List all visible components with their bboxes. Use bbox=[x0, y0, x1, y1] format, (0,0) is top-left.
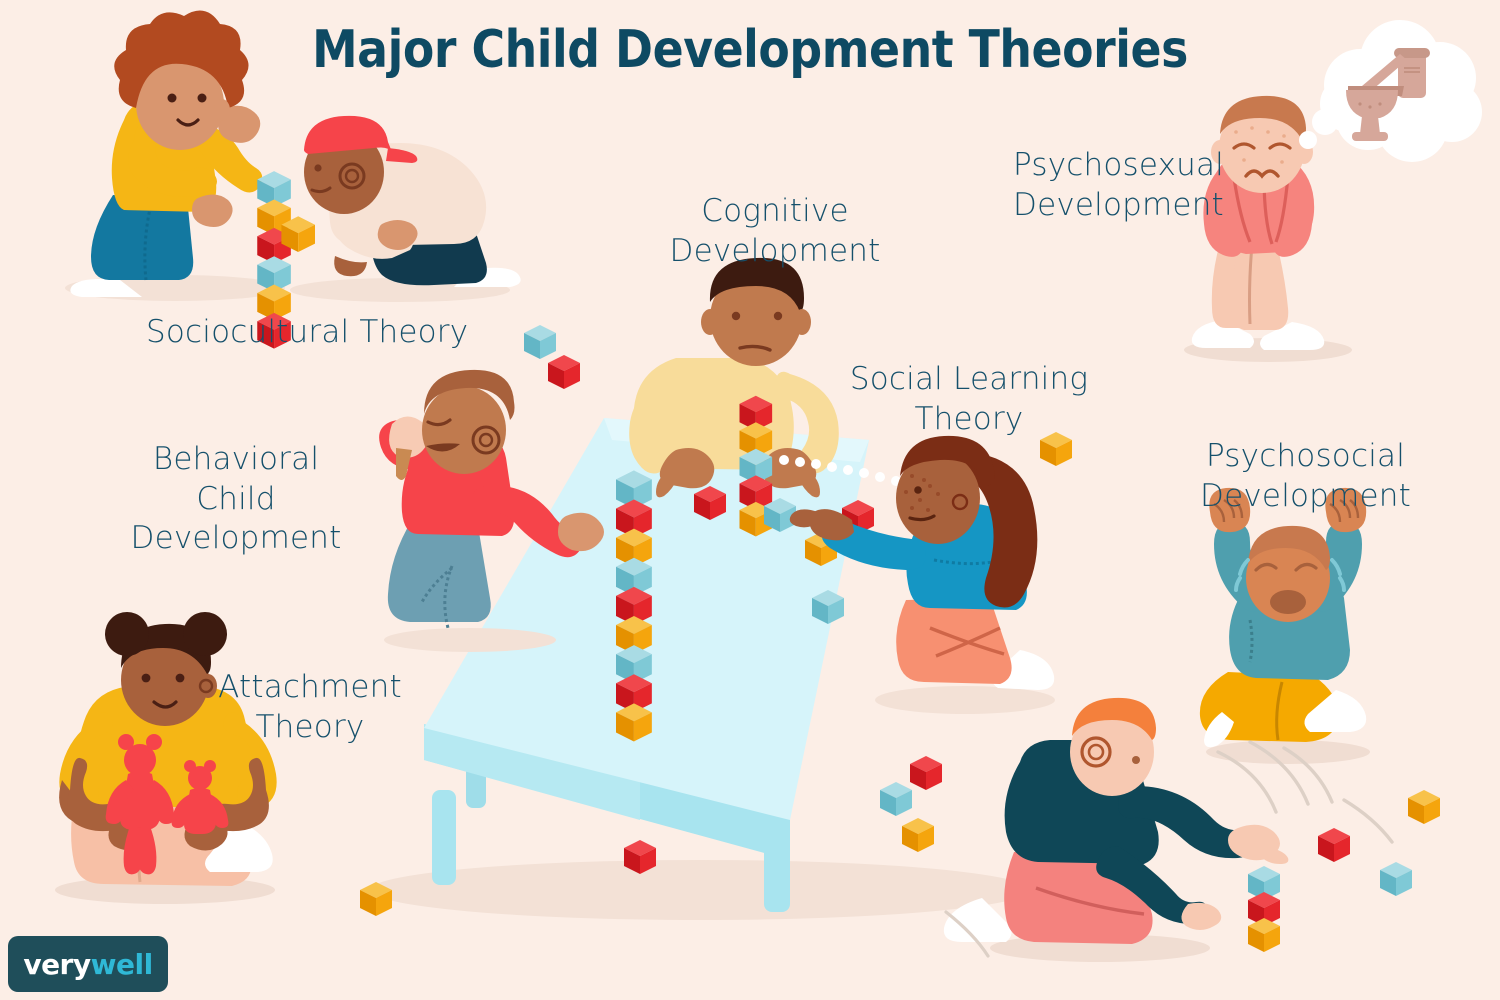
label-cognitive-development: Cognitive Development bbox=[645, 192, 905, 271]
label-behavioral-child-development: Behavioral Child Development bbox=[110, 440, 362, 559]
page-title: Major Child Development Theories bbox=[90, 20, 1410, 80]
verywell-logo[interactable]: verywell bbox=[8, 936, 168, 992]
logo-text-well: well bbox=[91, 948, 153, 981]
label-attachment-theory: Attachment Theory bbox=[215, 668, 405, 747]
block-tower-tall bbox=[616, 470, 652, 741]
label-sociocultural-theory: Sociocultural Theory bbox=[146, 313, 468, 353]
infographic-canvas: Major Child Development Theories Sociocu… bbox=[0, 0, 1500, 1000]
label-psychosocial-development: Psychosocial Development bbox=[1178, 437, 1433, 516]
label-social-learning-theory: Social Learning Theory bbox=[845, 360, 1093, 439]
logo-text-very: very bbox=[23, 948, 90, 981]
label-psychosexual-development: Psychosexual Development bbox=[1013, 146, 1263, 225]
